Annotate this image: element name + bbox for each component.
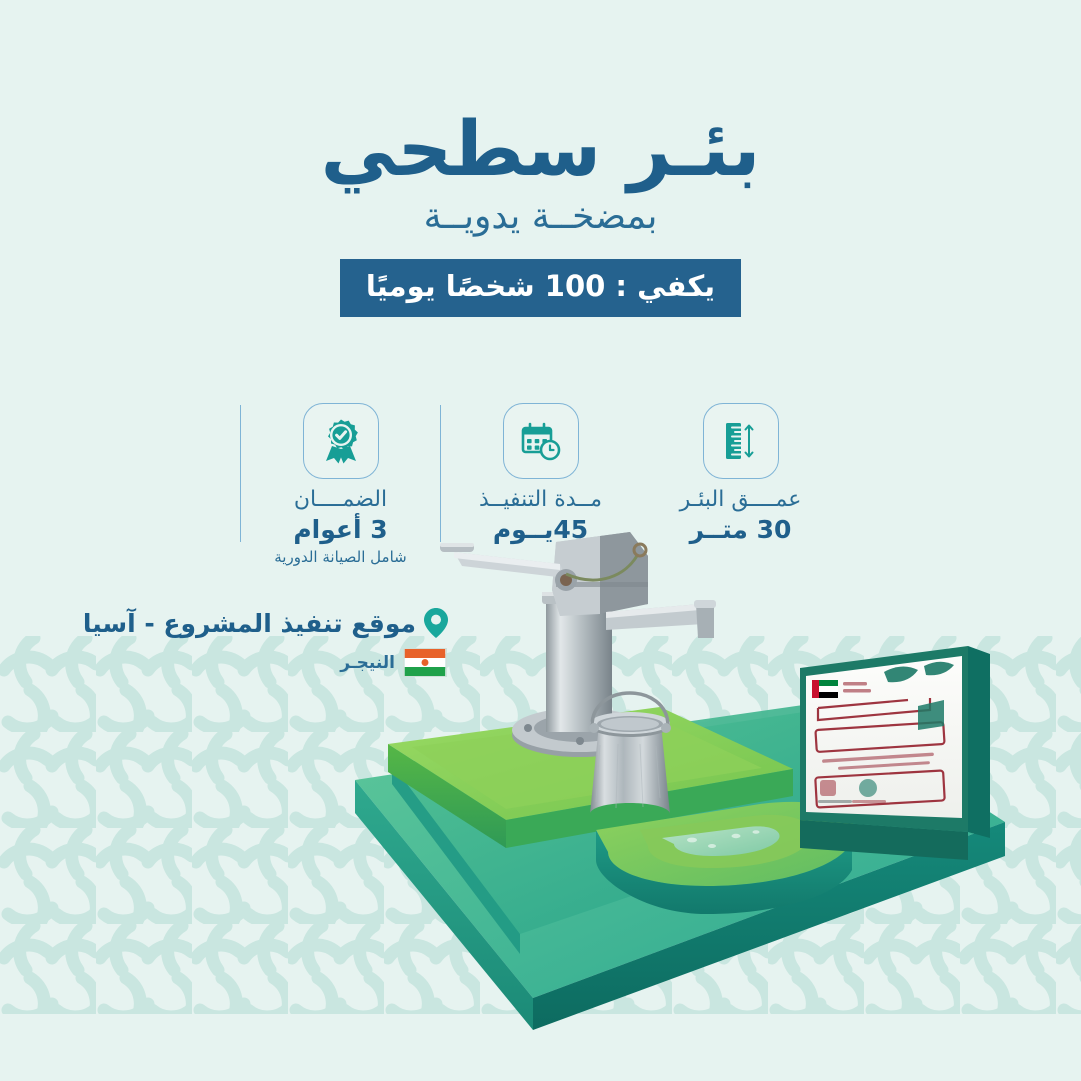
capacity-badge-wrap: يكفي : 100 شخصًا يوميًا (0, 259, 1081, 316)
feature-label: عمــــق البئـر (655, 487, 827, 513)
ribbon-check-icon (303, 403, 379, 479)
page-subtitle: بمضخــة يدويــة (0, 196, 1081, 237)
capacity-badge: يكفي : 100 شخصًا يوميًا (340, 259, 741, 316)
calendar-clock-icon (503, 403, 579, 479)
ruler-depth-icon (703, 403, 779, 479)
feature-well-depth: عمــــق البئـر 30 متــر (641, 403, 841, 546)
page-title: بئـر سطحي (0, 112, 1081, 186)
uae-flag-icon (812, 680, 838, 698)
hand-pump-well-illustration (0, 530, 1081, 1081)
poster-header: بئـر سطحي بمضخــة يدويــة يكفي : 100 شخص… (0, 112, 1081, 317)
project-signboard (800, 646, 990, 860)
feature-execution-duration: مــدة التنفيــذ 45يــوم (441, 403, 641, 546)
feature-label: مــدة التنفيــذ (455, 487, 627, 513)
feature-label: الضمــــان (255, 487, 427, 513)
poster-canvas: بئـر سطحي بمضخــة يدويــة يكفي : 100 شخص… (0, 0, 1081, 1081)
